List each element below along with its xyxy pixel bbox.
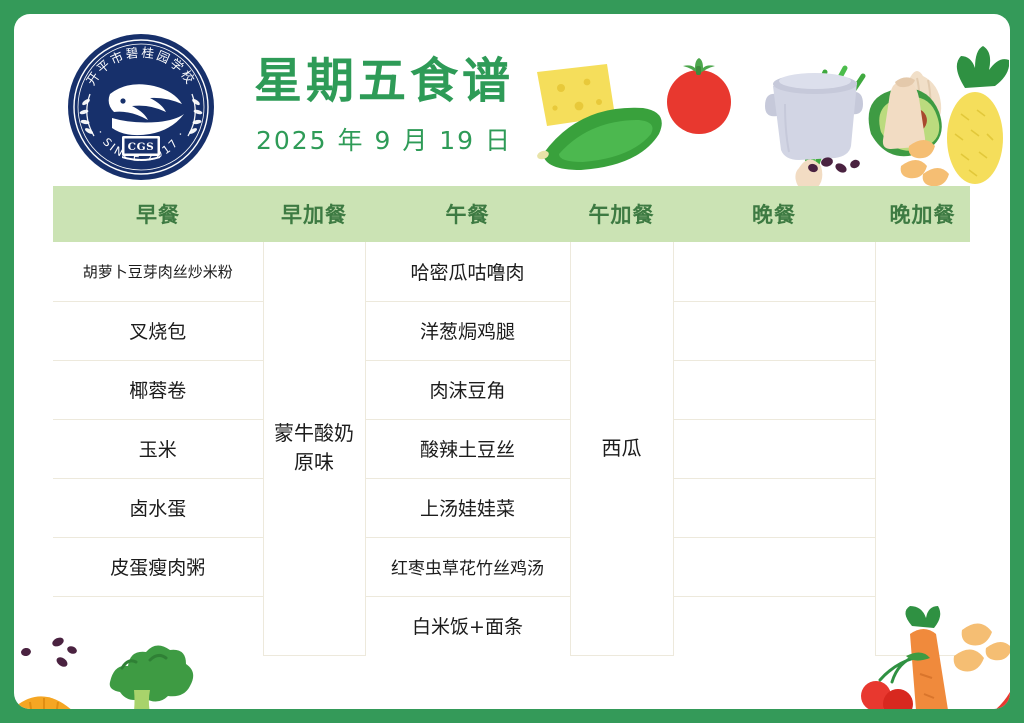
poster-card: 开平市碧桂园学校 · SINCE 2017 · bbox=[14, 14, 1010, 709]
menu-table: 早餐 早加餐 午餐 午加餐 晚餐 晚加餐 胡萝卜豆芽肉丝炒米粉 蒙牛酸奶 原味 bbox=[53, 186, 970, 656]
cell-lunch: 上汤娃娃菜 bbox=[365, 478, 570, 537]
cell-dinner bbox=[673, 537, 875, 596]
cell-afternoon-snack: 西瓜 bbox=[570, 242, 673, 655]
cell-breakfast: 胡萝卜豆芽肉丝炒米粉 bbox=[53, 242, 263, 301]
green-onion-icon bbox=[795, 68, 863, 187]
table-row: 叉烧包 洋葱焗鸡腿 bbox=[53, 301, 970, 360]
cell-breakfast bbox=[53, 596, 263, 655]
cell-breakfast: 皮蛋瘦肉粥 bbox=[53, 537, 263, 596]
cell-lunch: 洋葱焗鸡腿 bbox=[365, 301, 570, 360]
title-block: 星期五食谱 2025 年 9 月 19 日 bbox=[239, 54, 529, 157]
column-header-lunch: 午餐 bbox=[365, 186, 570, 242]
cell-dinner bbox=[673, 242, 875, 301]
cell-lunch: 哈密瓜咕噜肉 bbox=[365, 242, 570, 301]
svg-text:CGS: CGS bbox=[128, 141, 155, 153]
menu-date: 2025 年 9 月 19 日 bbox=[239, 121, 529, 157]
cell-breakfast: 玉米 bbox=[53, 419, 263, 478]
school-crest-logo: 开平市碧桂园学校 · SINCE 2017 · bbox=[66, 32, 216, 182]
column-header-breakfast: 早餐 bbox=[53, 186, 263, 242]
cell-lunch: 白米饭+面条 bbox=[365, 596, 570, 655]
table-row: 玉米 酸辣土豆丝 bbox=[53, 419, 970, 478]
column-header-evening-snack: 晚加餐 bbox=[875, 186, 970, 242]
cell-lunch: 酸辣土豆丝 bbox=[365, 419, 570, 478]
menu-table-container: 早餐 早加餐 午餐 午加餐 晚餐 晚加餐 胡萝卜豆芽肉丝炒米粉 蒙牛酸奶 原味 bbox=[53, 186, 970, 660]
table-row: 卤水蛋 上汤娃娃菜 bbox=[53, 478, 970, 537]
table-row: 椰蓉卷 肉沫豆角 bbox=[53, 360, 970, 419]
cell-dinner bbox=[673, 301, 875, 360]
morning-snack-line2: 原味 bbox=[264, 448, 365, 477]
cell-lunch: 红枣虫草花竹丝鸡汤 bbox=[365, 537, 570, 596]
menu-poster: 开平市碧桂园学校 · SINCE 2017 · bbox=[0, 0, 1024, 723]
cell-lunch: 肉沫豆角 bbox=[365, 360, 570, 419]
tomato-icon bbox=[667, 58, 731, 134]
cherries-icon bbox=[861, 652, 930, 709]
cell-breakfast: 卤水蛋 bbox=[53, 478, 263, 537]
column-header-morning-snack: 早加餐 bbox=[263, 186, 365, 242]
morning-snack-line1: 蒙牛酸奶 bbox=[264, 419, 365, 448]
page-title: 星期五食谱 bbox=[239, 54, 529, 109]
table-row: 白米饭+面条 bbox=[53, 596, 970, 655]
table-header-row: 早餐 早加餐 午餐 午加餐 晚餐 晚加餐 bbox=[53, 186, 970, 242]
column-header-afternoon-snack: 午加餐 bbox=[570, 186, 673, 242]
table-row: 皮蛋瘦肉粥 红枣虫草花竹丝鸡汤 bbox=[53, 537, 970, 596]
column-header-dinner: 晚餐 bbox=[673, 186, 875, 242]
cell-evening-snack bbox=[875, 242, 970, 655]
cell-dinner bbox=[673, 478, 875, 537]
food-illustration-strip bbox=[519, 42, 999, 187]
cell-breakfast: 椰蓉卷 bbox=[53, 360, 263, 419]
orange-slice-icon bbox=[16, 696, 74, 709]
cell-breakfast: 叉烧包 bbox=[53, 301, 263, 360]
cell-dinner bbox=[673, 360, 875, 419]
table-row: 胡萝卜豆芽肉丝炒米粉 蒙牛酸奶 原味 哈密瓜咕噜肉 西瓜 bbox=[53, 242, 970, 301]
cell-dinner bbox=[673, 419, 875, 478]
poster-header: 开平市碧桂园学校 · SINCE 2017 · bbox=[14, 14, 1010, 186]
cell-morning-snack: 蒙牛酸奶 原味 bbox=[263, 242, 365, 655]
avocado-icon bbox=[869, 88, 942, 156]
cell-dinner bbox=[673, 596, 875, 655]
